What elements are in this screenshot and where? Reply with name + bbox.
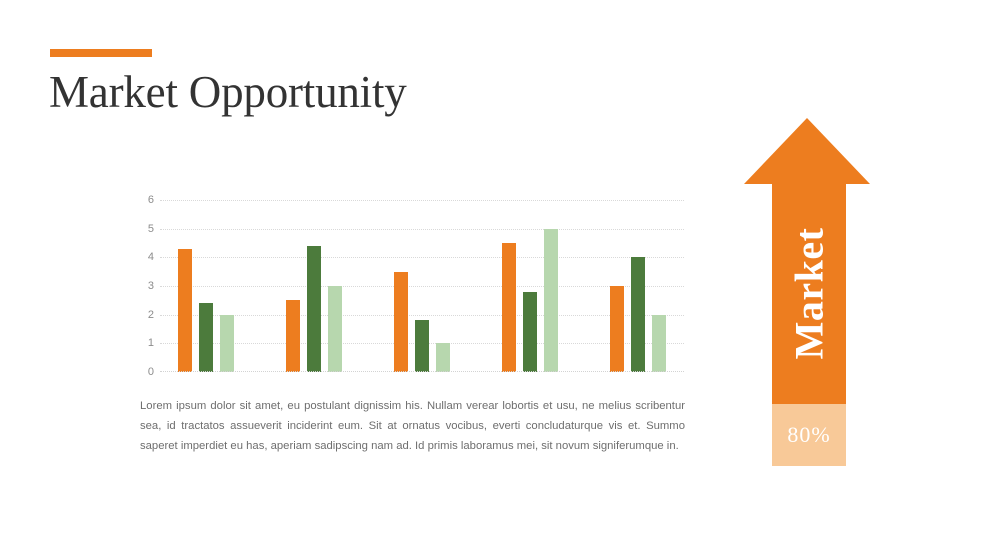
chart-bar-group bbox=[394, 200, 450, 372]
body-paragraph: Lorem ipsum dolor sit amet, eu postulant… bbox=[140, 396, 685, 456]
chart-bar bbox=[544, 229, 558, 372]
y-axis-tick-label: 4 bbox=[148, 251, 154, 263]
chart-bar-group bbox=[502, 200, 558, 372]
chart-bar bbox=[436, 343, 450, 372]
market-arrow-graphic: Market 80% bbox=[744, 118, 870, 468]
page-title: Market Opportunity bbox=[49, 66, 407, 118]
chart-bar-group bbox=[610, 200, 666, 372]
chart-bar bbox=[652, 315, 666, 372]
chart-bar bbox=[631, 257, 645, 372]
y-axis-tick-label: 1 bbox=[148, 337, 154, 349]
chart-bar bbox=[307, 246, 321, 372]
chart-bar bbox=[220, 315, 234, 372]
y-axis-tick-label: 5 bbox=[148, 223, 154, 235]
chart-bar bbox=[286, 300, 300, 372]
arrow-percent-value: 80% bbox=[787, 422, 830, 448]
title-accent-bar bbox=[50, 49, 152, 57]
y-axis-tick-label: 3 bbox=[148, 280, 154, 292]
arrow-label-wrap: Market bbox=[772, 182, 846, 404]
y-axis-tick-label: 0 bbox=[148, 366, 154, 378]
y-axis-tick-label: 2 bbox=[148, 309, 154, 321]
arrow-percent-box: 80% bbox=[772, 404, 846, 466]
y-axis-tick-label: 6 bbox=[148, 194, 154, 206]
chart-plot-area bbox=[160, 200, 684, 372]
chart-bar-group bbox=[178, 200, 234, 372]
chart-y-axis: 0123456 bbox=[132, 200, 154, 372]
chart-bar bbox=[610, 286, 624, 372]
arrow-shaft: Market bbox=[772, 182, 846, 404]
chart-bar bbox=[523, 292, 537, 372]
chart-bar-group bbox=[286, 200, 342, 372]
bar-chart: 0123456 bbox=[132, 200, 684, 380]
chart-bar bbox=[502, 243, 516, 372]
arrow-label: Market bbox=[786, 227, 833, 359]
chart-bar bbox=[328, 286, 342, 372]
chart-bar bbox=[199, 303, 213, 372]
chart-baseline bbox=[160, 371, 684, 372]
chart-bar-groups bbox=[160, 200, 684, 372]
chart-bar bbox=[394, 272, 408, 372]
arrow-up-icon bbox=[744, 118, 870, 184]
chart-bar bbox=[415, 320, 429, 372]
chart-bar bbox=[178, 249, 192, 372]
slide-root: Market Opportunity 0123456 Lorem ipsum d… bbox=[0, 0, 988, 556]
